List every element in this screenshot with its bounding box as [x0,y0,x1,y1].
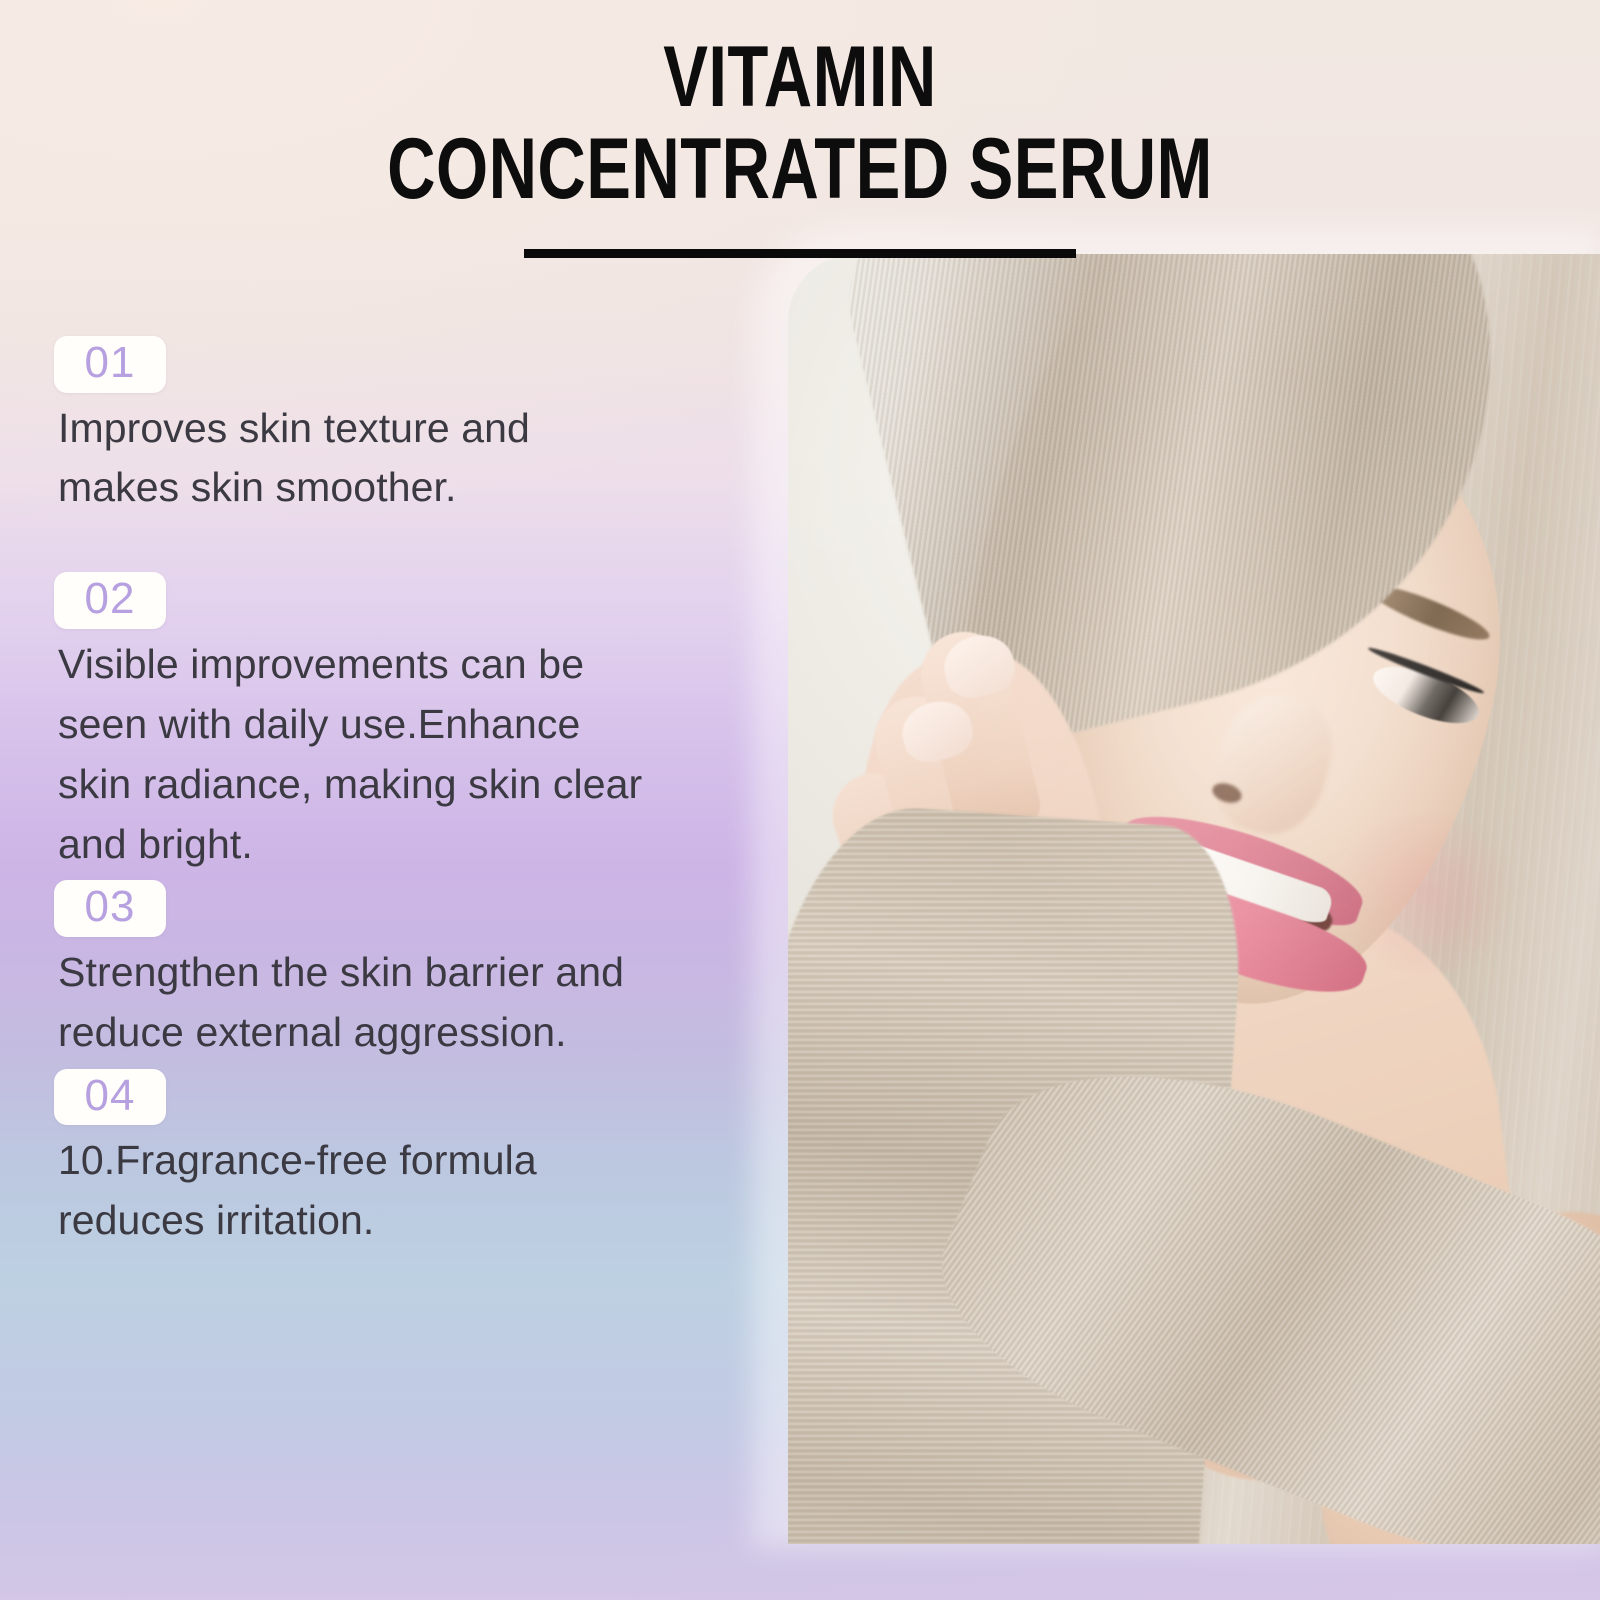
benefit-number-01: 01 [85,338,136,387]
benefit-badge-02: 02 [54,572,166,629]
benefit-item-03: 03 Strengthen the skin barrier and reduc… [54,880,694,1062]
benefit-number-04: 04 [85,1071,136,1120]
benefit-item-01: 01 Improves skin texture and makes skin … [54,336,694,518]
product-poster: VITAMIN CONCENTRATED SERUM [0,0,1600,1600]
benefit-badge-04: 04 [54,1069,166,1126]
benefit-text-02: Visible improvements can be seen with da… [58,635,658,874]
benefit-number-02: 02 [85,574,136,623]
model-photo [788,254,1600,1544]
benefit-badge-03: 03 [54,880,166,937]
benefits-list: 01 Improves skin texture and makes skin … [54,336,694,1261]
benefit-text-01: Improves skin texture and makes skin smo… [58,399,618,519]
benefit-item-04: 04 10.Fragrance-free formula reduces irr… [54,1069,694,1251]
poster-header: VITAMIN CONCENTRATED SERUM [0,34,1600,258]
benefit-text-03: Strengthen the skin barrier and reduce e… [58,943,638,1063]
title-underline-rule [524,249,1076,258]
benefit-text-04: 10.Fragrance-free formula reduces irrita… [58,1131,628,1251]
benefit-badge-01: 01 [54,336,166,393]
benefit-number-03: 03 [85,882,136,931]
benefit-item-02: 02 Visible improvements can be seen with… [54,572,694,874]
page-title-line-1: VITAMIN [176,34,1424,122]
page-title-line-2: CONCENTRATED SERUM [176,126,1424,214]
